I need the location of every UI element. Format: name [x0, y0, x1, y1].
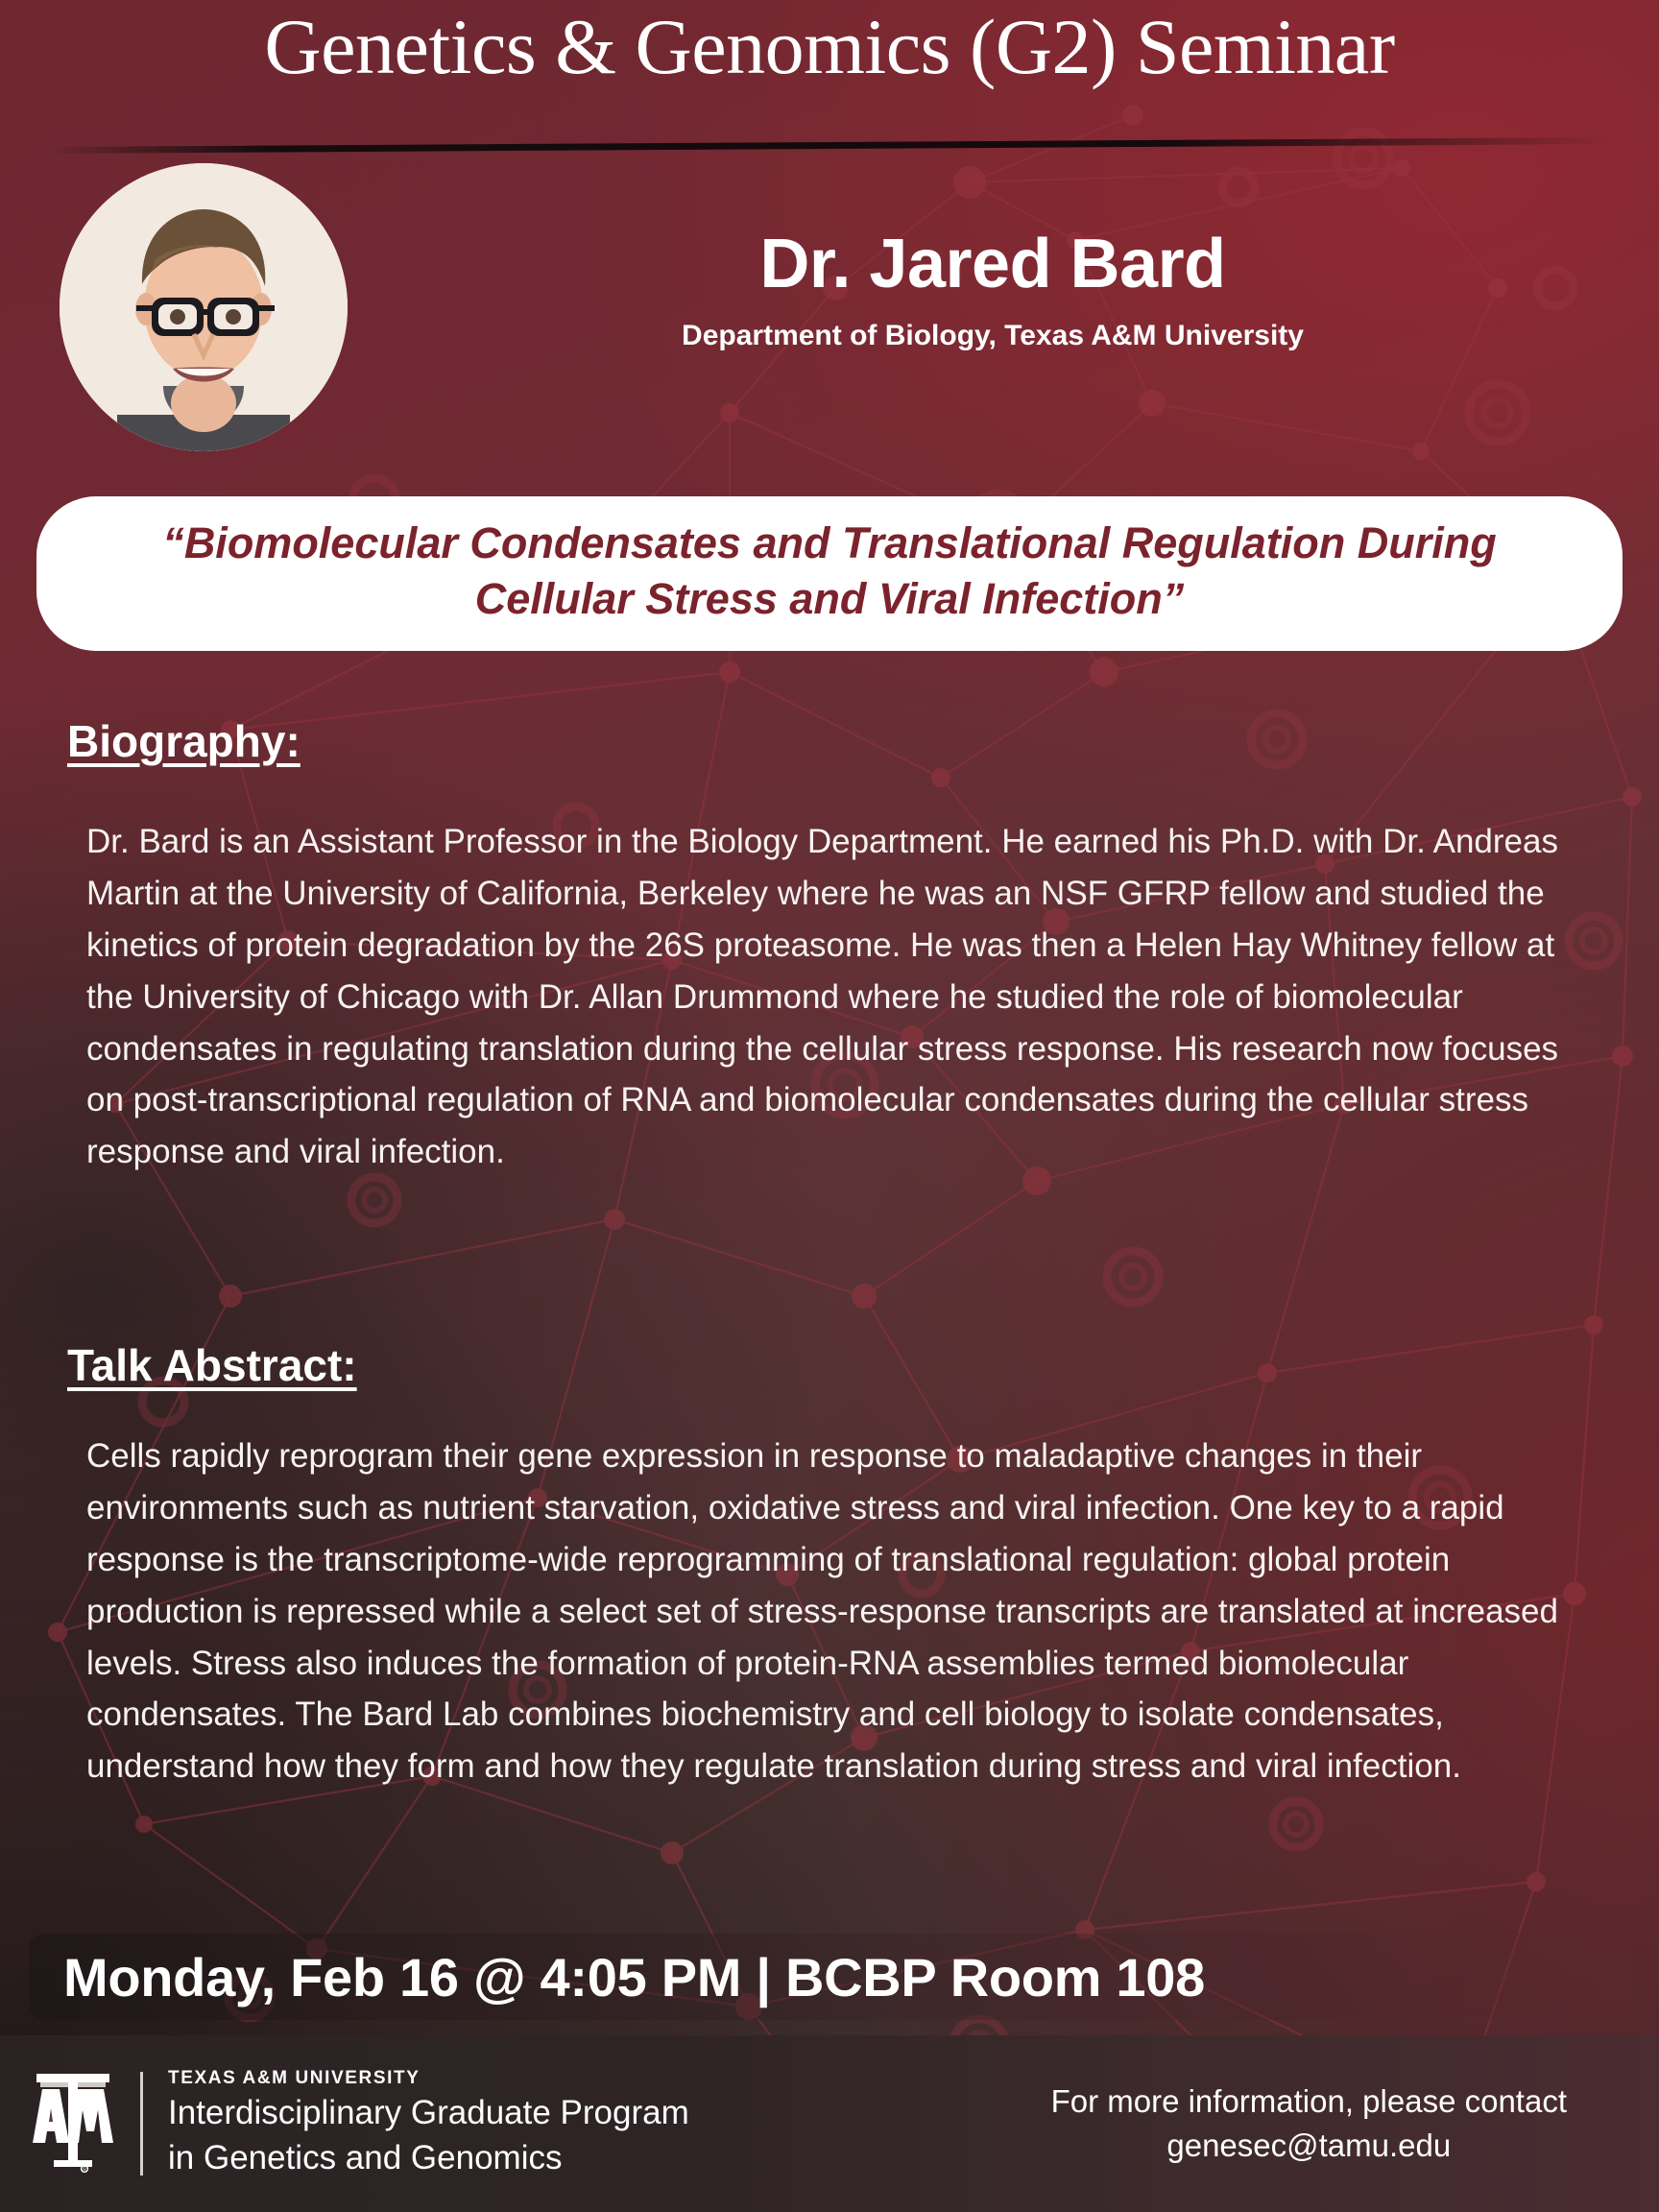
- program-line-2: in Genetics and Genomics: [168, 2138, 689, 2179]
- biography-heading: Biography:: [67, 715, 301, 767]
- speaker-portrait-illustration: [60, 163, 348, 451]
- event-details: Monday, Feb 16 @ 4:05 PM | BCBP Room 108: [29, 1946, 1205, 2008]
- biography-text: Dr. Bard is an Assistant Professor in th…: [86, 816, 1575, 1178]
- university-name: TEXAS A&M UNIVERSITY: [168, 2068, 689, 2089]
- logo-divider: [140, 2072, 143, 2176]
- abstract-heading: Talk Abstract:: [67, 1339, 357, 1391]
- event-details-bar: Monday, Feb 16 @ 4:05 PM | BCBP Room 108: [29, 1934, 1630, 2020]
- contact-email[interactable]: genesec@tamu.edu: [1051, 2124, 1567, 2168]
- tamu-logo-group: R TEXAS A&M UNIVERSITY Interdisciplinary…: [0, 2068, 689, 2178]
- svg-text:R: R: [83, 2167, 86, 2173]
- seminar-poster: Genetics & Genomics (G2) Seminar: [0, 0, 1659, 2212]
- poster-title-wrap: Genetics & Genomics (G2) Seminar: [0, 6, 1659, 89]
- page-title: Genetics & Genomics (G2) Seminar: [0, 6, 1659, 89]
- contact-block: For more information, please contact gen…: [1051, 2080, 1659, 2168]
- talk-title: “Biomolecular Condensates and Translatio…: [81, 516, 1578, 626]
- speaker-department: Department of Biology, Texas A&M Univers…: [384, 320, 1601, 352]
- speaker-block: Dr. Jared Bard Department of Biology, Te…: [384, 227, 1601, 352]
- poster-footer: R TEXAS A&M UNIVERSITY Interdisciplinary…: [0, 2035, 1659, 2212]
- program-name-block: TEXAS A&M UNIVERSITY Interdisciplinary G…: [168, 2068, 689, 2178]
- program-line-1: Interdisciplinary Graduate Program: [168, 2093, 689, 2134]
- abstract-text: Cells rapidly reprogram their gene expre…: [86, 1431, 1575, 1792]
- speaker-name: Dr. Jared Bard: [384, 227, 1601, 302]
- texas-am-logo-icon: R: [27, 2072, 119, 2176]
- speaker-avatar: [60, 163, 348, 451]
- contact-prompt: For more information, please contact: [1051, 2080, 1567, 2124]
- talk-title-pill: “Biomolecular Condensates and Translatio…: [36, 496, 1623, 651]
